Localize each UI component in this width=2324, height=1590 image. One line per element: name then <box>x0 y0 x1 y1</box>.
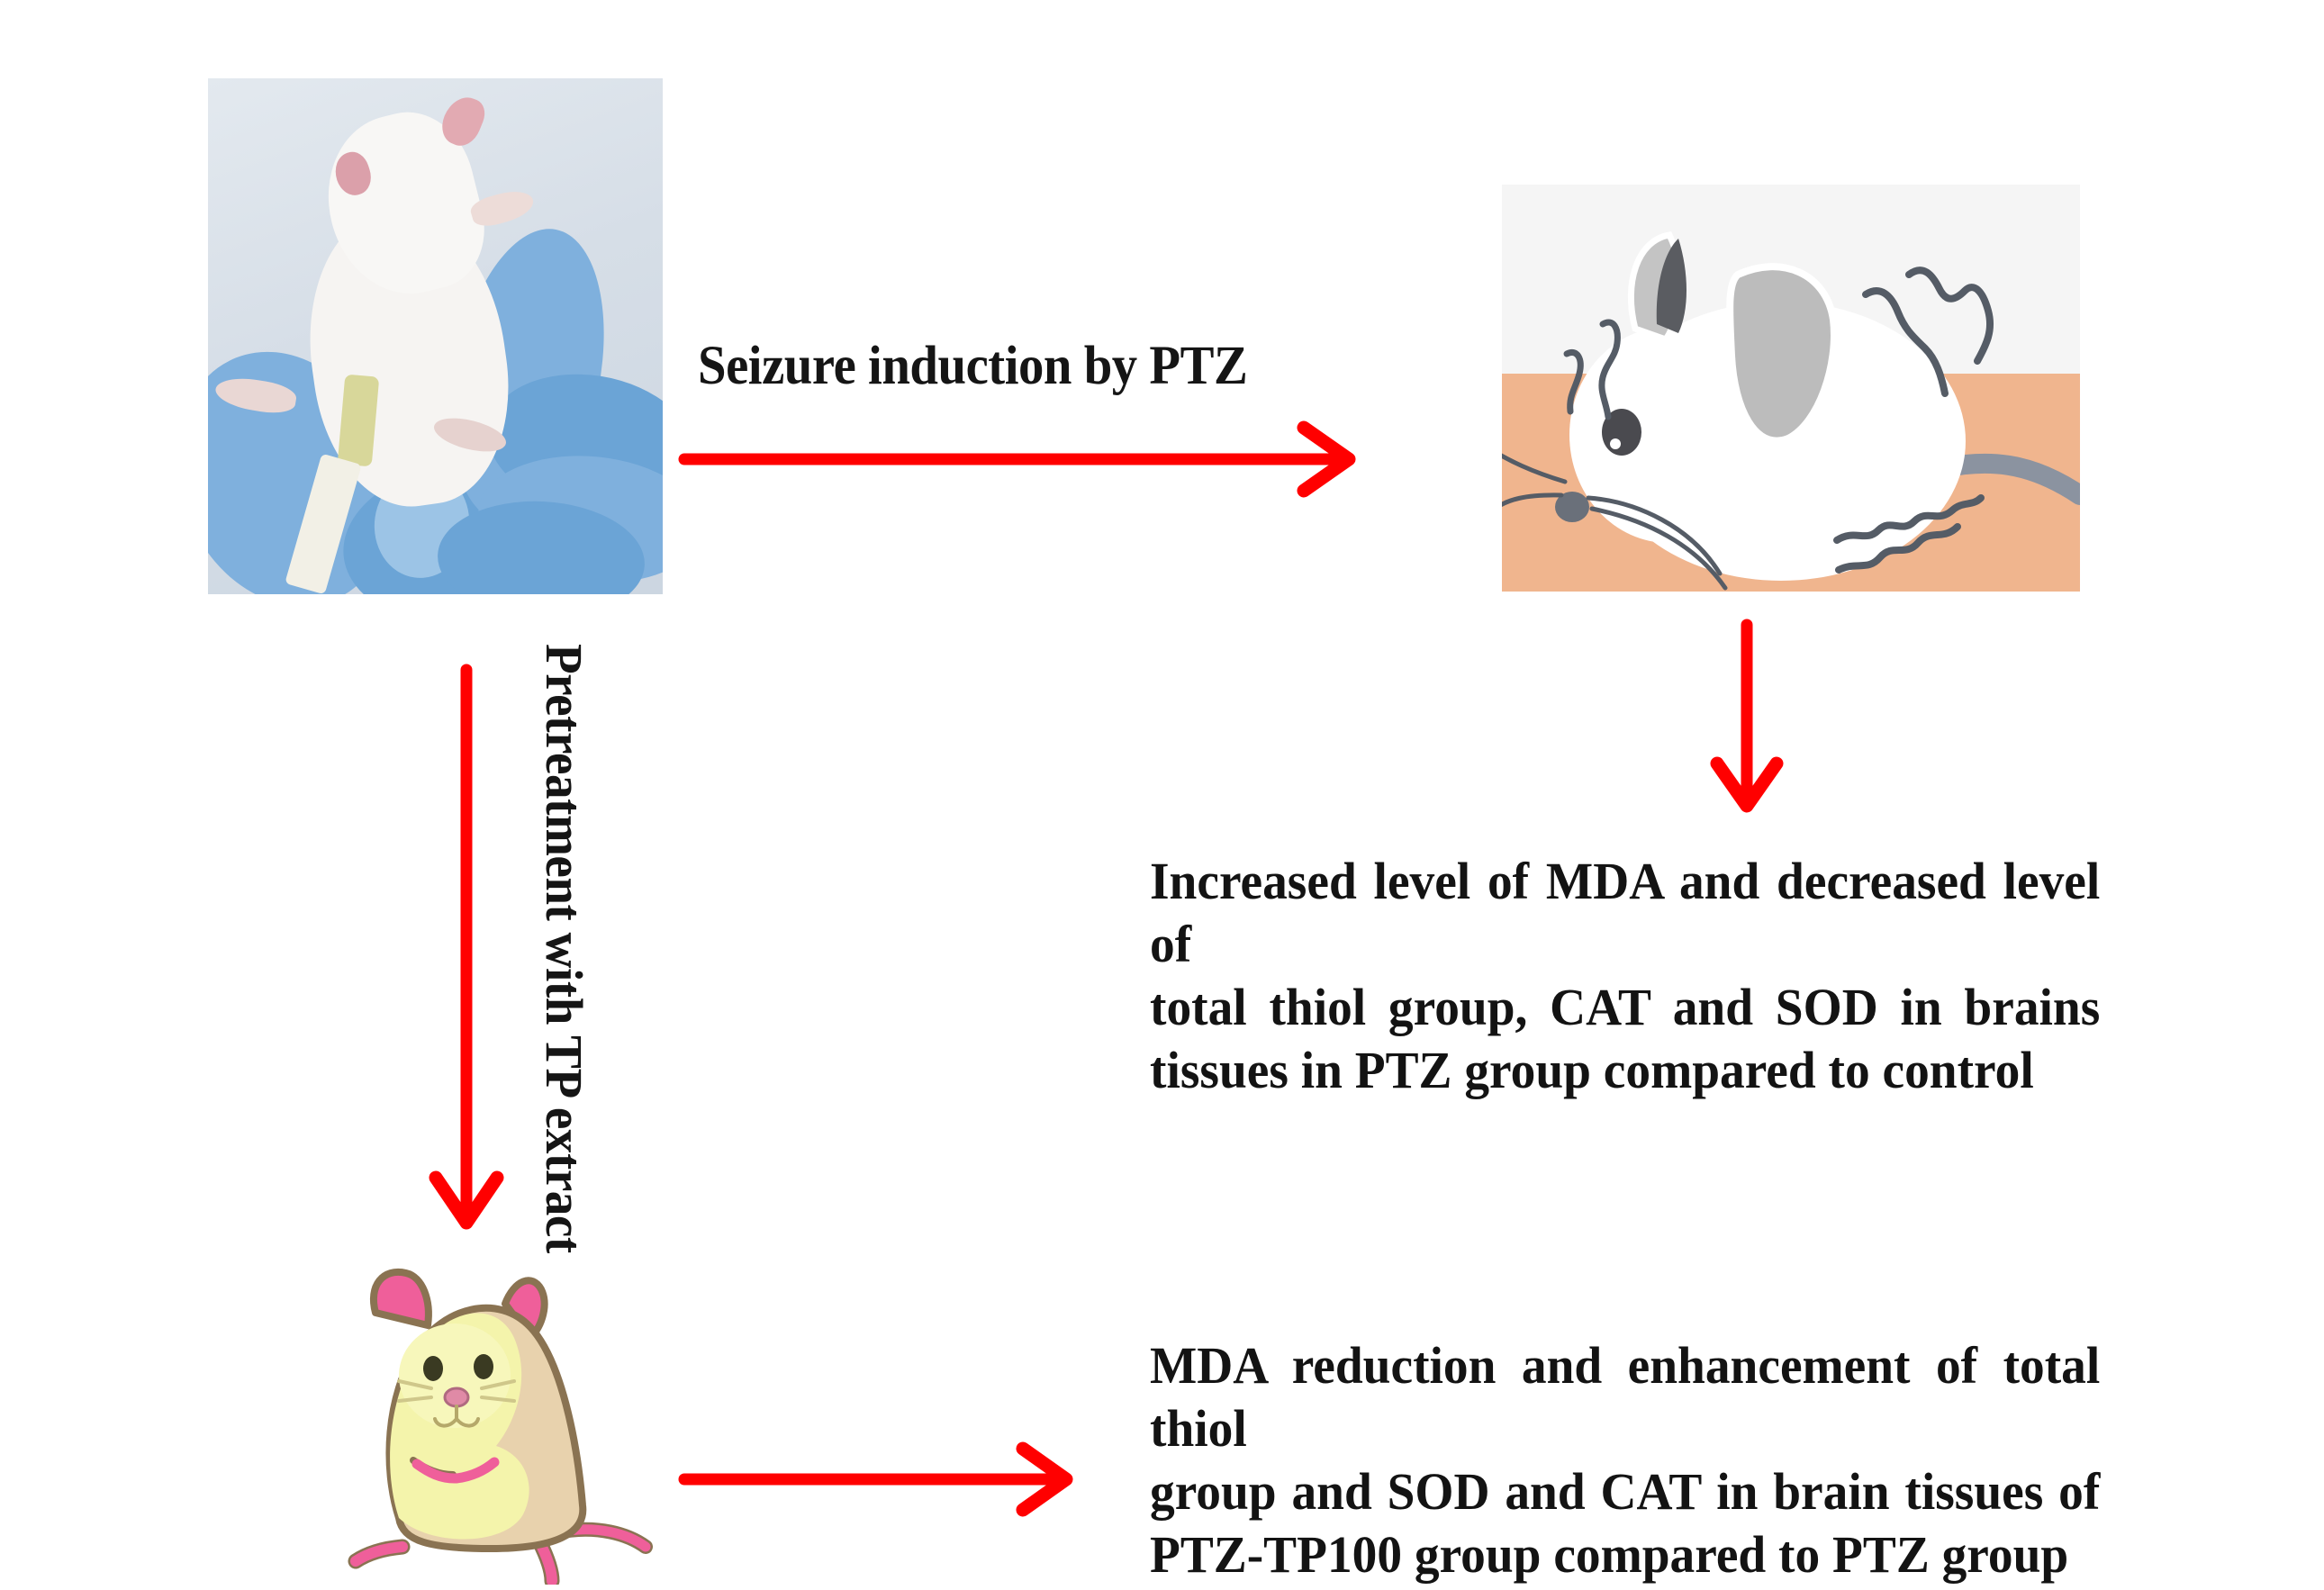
arrow-label-seizure-induction: Seizure induction by PTZ <box>698 335 1247 398</box>
rat-forepaw <box>468 185 537 230</box>
arrow-ptz-outcome <box>1711 621 1792 815</box>
graphical-abstract-canvas: Seizure induction by PTZ <box>0 0 2324 1590</box>
arrow-tp-outcome <box>683 1445 1088 1517</box>
arrow-label-pretreatment: Pretreatment with TP extract <box>534 644 594 1253</box>
result-line: PTZ-TP100 group compared to PTZ group <box>1150 1523 2100 1586</box>
arrow-pretreatment <box>432 666 513 1233</box>
rat-handling-photo <box>208 78 663 594</box>
mouse-eye-right <box>474 1354 493 1379</box>
result-line: Increased level of MDA and decreased lev… <box>1150 850 2100 976</box>
result-line: MDA reduction and enhancement of total t… <box>1150 1334 2100 1460</box>
cartoon-mouse-illustration <box>347 1260 653 1585</box>
arrow-seizure-induction <box>683 423 1367 495</box>
mouse-ear-left <box>374 1272 429 1325</box>
mouse-eye-highlight <box>1610 438 1621 449</box>
result-text-ptz-tp100-group: MDA reduction and enhancement of total t… <box>1150 1334 2145 1586</box>
mouse-eye-left <box>423 1356 443 1381</box>
mouse-nose <box>445 1388 468 1406</box>
mouse-whisker <box>1502 453 1565 482</box>
seizing-mouse-illustration <box>1502 185 2080 592</box>
result-line: group and SOD and CAT in brain tissues o… <box>1150 1460 2100 1523</box>
result-text-ptz-group: Increased level of MDA and decreased lev… <box>1150 850 2145 1102</box>
mouse-whisker <box>1502 495 1561 509</box>
result-line: total thiol group, CAT and SOD in brains <box>1150 976 2100 1039</box>
result-line: tissues in PTZ group compared to control <box>1150 1039 2100 1102</box>
